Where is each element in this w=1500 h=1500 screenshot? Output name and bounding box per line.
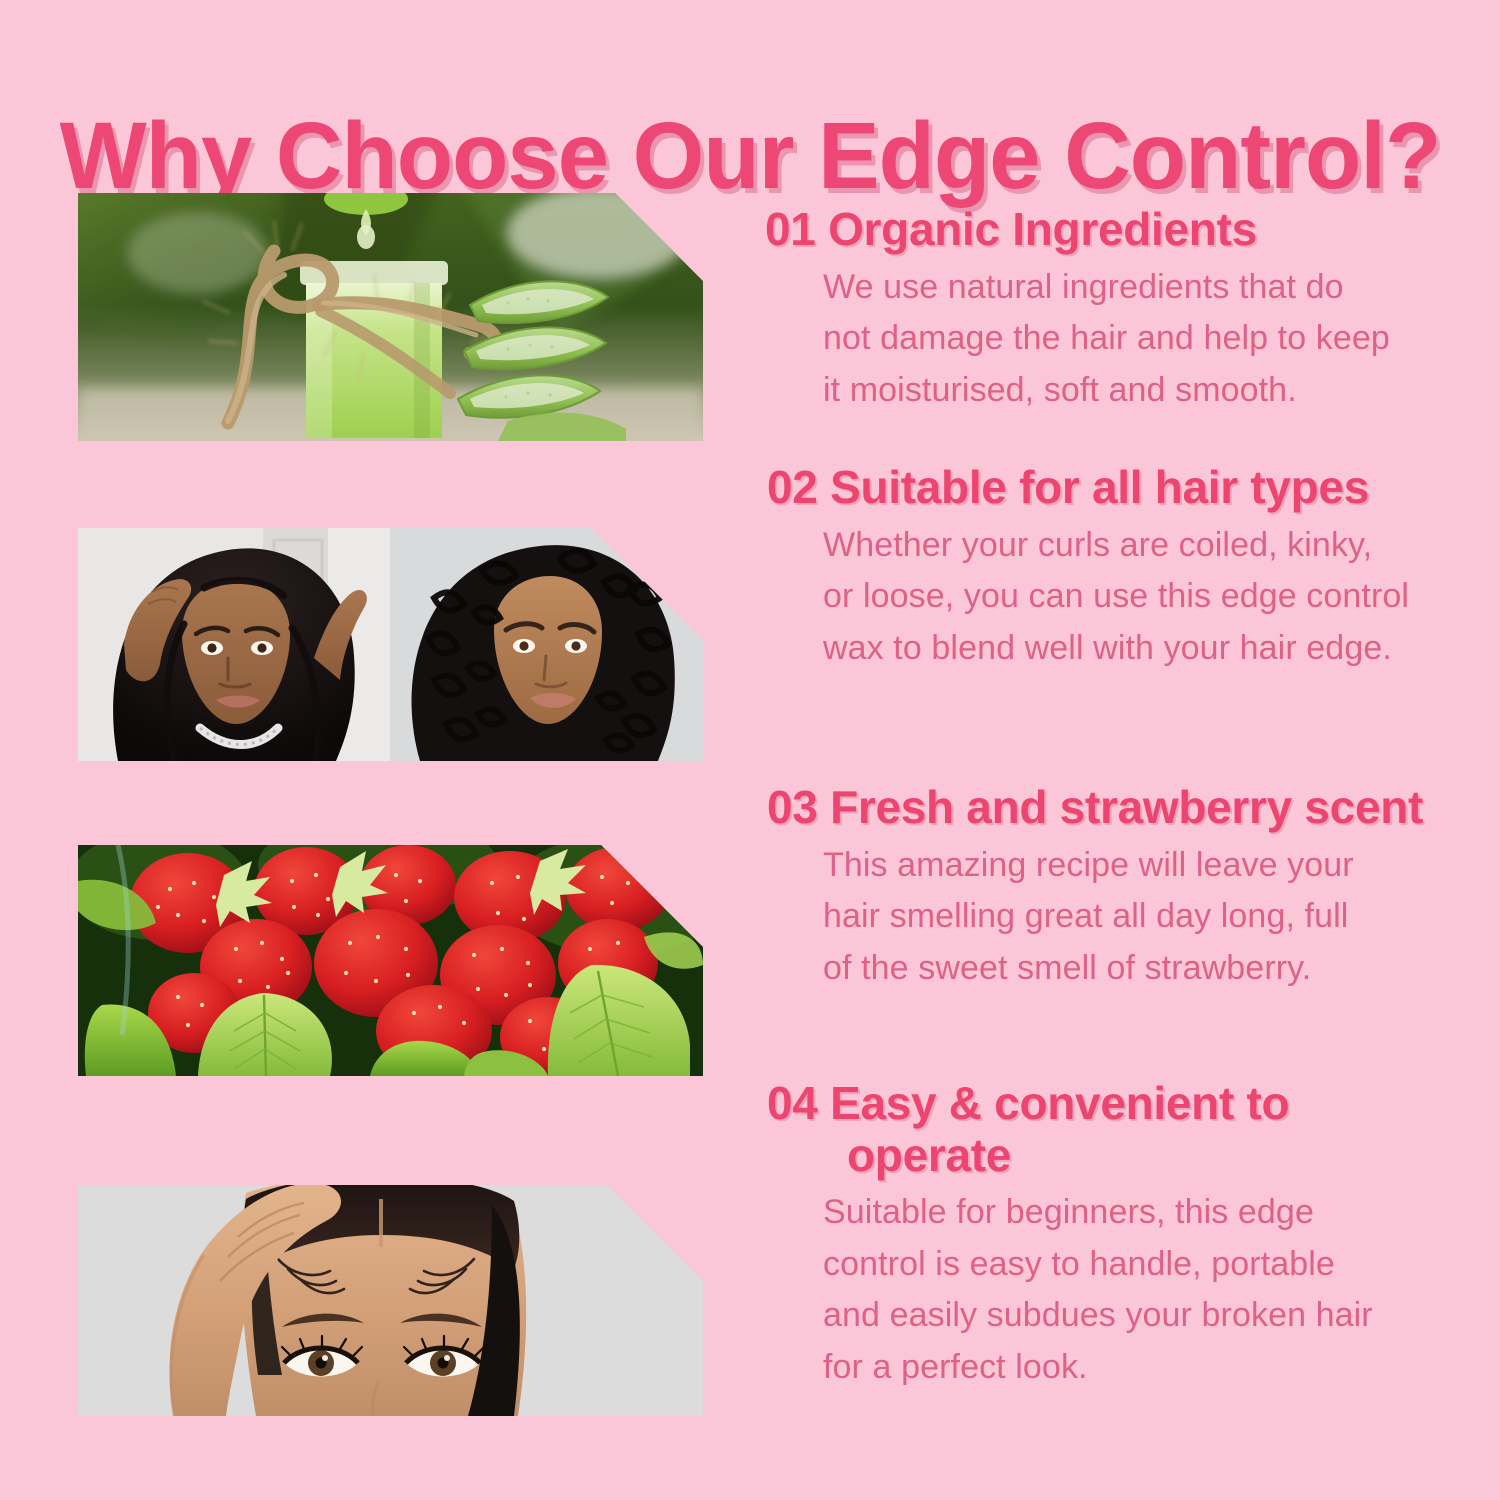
- feature-body-line: wax to blend well with your hair edge.: [823, 623, 1445, 675]
- feature-block-04: 04 Easy & convenient to operate Suitable…: [765, 1078, 1445, 1394]
- laid-edges-illustration: [78, 1185, 703, 1416]
- feature-body-02: Whether your curls are coiled, kinky, or…: [765, 520, 1445, 675]
- feature-body-03: This amazing recipe will leave your hair…: [765, 840, 1445, 995]
- feature-title-04: Easy & convenient to operate: [830, 1077, 1289, 1181]
- feature-title-01: Organic Ingredients: [828, 203, 1257, 255]
- strawberries-illustration: [78, 845, 703, 1076]
- feature-block-01: 01 Organic Ingredients We use natural in…: [765, 204, 1445, 417]
- feature-body-line: or loose, you can use this edge control: [823, 571, 1445, 623]
- feature-block-03: 03 Fresh and strawberry scent This amazi…: [765, 782, 1445, 995]
- feature-title-03: Fresh and strawberry scent: [830, 781, 1423, 833]
- hair-types-photo: [78, 528, 703, 761]
- aloe-vera-oil-photo: [78, 193, 703, 441]
- feature-body-01: We use natural ingredients that do not d…: [765, 262, 1445, 417]
- feature-number-04: 04: [767, 1077, 818, 1129]
- hair-types-illustration: [78, 528, 703, 761]
- feature-heading-01: 01 Organic Ingredients: [765, 204, 1445, 256]
- feature-body-line: We use natural ingredients that do: [823, 262, 1445, 314]
- feature-body-04: Suitable for beginners, this edge contro…: [765, 1187, 1445, 1394]
- feature-heading-02: 02 Suitable for all hair types: [765, 462, 1445, 514]
- feature-body-line: for a perfect look.: [823, 1342, 1445, 1394]
- aloe-vera-oil-illustration: [78, 193, 703, 441]
- feature-body-line: it moisturised, soft and smooth.: [823, 365, 1445, 417]
- photo-column: [78, 0, 718, 1500]
- feature-body-line: not damage the hair and help to keep: [823, 313, 1445, 365]
- feature-number-01: 01: [765, 203, 816, 255]
- strawberries-photo: [78, 845, 703, 1076]
- feature-heading-03: 03 Fresh and strawberry scent: [765, 782, 1445, 834]
- feature-body-line: hair smelling great all day long, full: [823, 891, 1445, 943]
- laid-edges-photo: [78, 1185, 703, 1416]
- feature-number-03: 03: [767, 781, 818, 833]
- feature-body-line: and easily subdues your broken hair: [823, 1290, 1445, 1342]
- feature-list: 01 Organic Ingredients We use natural in…: [765, 0, 1445, 1500]
- feature-body-line: control is easy to handle, portable: [823, 1239, 1445, 1291]
- feature-number-02: 02: [767, 461, 818, 513]
- feature-heading-04: 04 Easy & convenient to operate: [765, 1078, 1445, 1181]
- feature-body-line: Whether your curls are coiled, kinky,: [823, 520, 1445, 572]
- feature-block-02: 02 Suitable for all hair types Whether y…: [765, 462, 1445, 675]
- feature-body-line: of the sweet smell of strawberry.: [823, 943, 1445, 995]
- feature-title-02: Suitable for all hair types: [830, 461, 1369, 513]
- feature-body-line: Suitable for beginners, this edge: [823, 1187, 1445, 1239]
- feature-body-line: This amazing recipe will leave your: [823, 840, 1445, 892]
